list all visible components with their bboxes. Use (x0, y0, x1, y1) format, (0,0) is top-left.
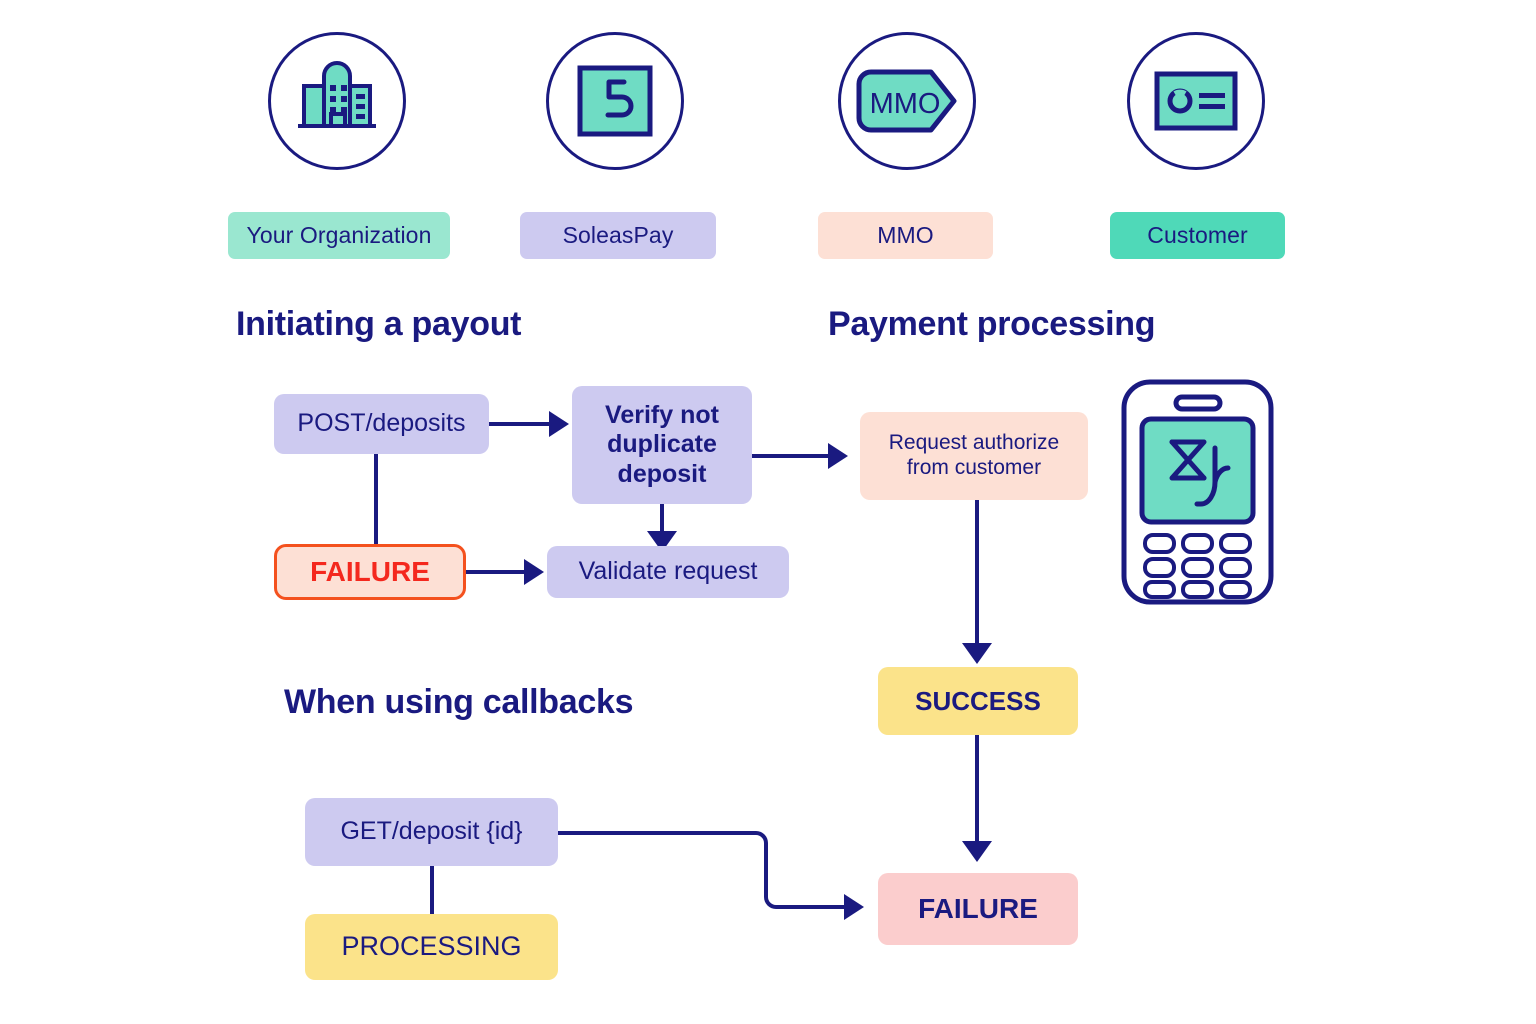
section-title-payment-processing: Payment processing (828, 305, 1155, 344)
connector-verify-to-request (752, 454, 830, 458)
legend-label: MMO (877, 222, 934, 249)
mmo-tag-icon: MMO (855, 68, 959, 134)
node-label: FAILURE (918, 892, 1038, 925)
legend-circle-soleaspay (546, 32, 684, 170)
legend-circle-your-organization (268, 32, 406, 170)
legend-badge-mmo: MMO (818, 212, 993, 259)
arrowhead-failure-to-validate (524, 559, 544, 585)
legend-item-mmo: MMO MMO (838, 32, 1013, 259)
section-title-initiating: Initiating a payout (236, 305, 521, 344)
legend-label: Your Organization (247, 222, 432, 249)
soleaspay-s-icon (576, 64, 654, 138)
connector-get-to-failure-seg3 (784, 905, 846, 909)
node-processing-status[interactable]: PROCESSING (305, 914, 558, 980)
node-success[interactable]: SUCCESS (878, 667, 1078, 735)
node-post-deposits[interactable]: POST/deposits (274, 394, 489, 454)
customer-card-icon (1153, 70, 1239, 132)
legend-badge-customer: Customer (1110, 212, 1285, 259)
connector-get-to-processing (430, 866, 434, 916)
connector-get-to-failure-seg2 (764, 851, 768, 889)
node-validate-request[interactable]: Validate request (547, 546, 789, 598)
node-label: PROCESSING (341, 931, 521, 963)
legend-item-your-organization: Your Organization (268, 32, 490, 259)
svg-text:MMO: MMO (870, 88, 941, 120)
node-label: FAILURE (310, 555, 430, 588)
connector-post-to-failure (374, 454, 378, 546)
node-failure-left[interactable]: FAILURE (274, 544, 466, 600)
legend-label: Customer (1147, 222, 1248, 249)
node-label: SUCCESS (915, 686, 1041, 717)
legend-badge-soleaspay: SoleasPay (520, 212, 716, 259)
connector-failure-to-validate (466, 570, 526, 574)
legend-item-customer: Customer (1127, 32, 1302, 259)
node-get-deposit[interactable]: GET/deposit {id} (305, 798, 558, 866)
legend-badge-your-organization: Your Organization (228, 212, 450, 259)
node-label: GET/deposit {id} (340, 817, 522, 847)
arrowhead-get-to-failure (844, 894, 864, 920)
node-request-authorize[interactable]: Request authorize from customer (860, 412, 1088, 500)
arrowhead-verify-to-request (828, 443, 848, 469)
connector-success-to-failure (975, 735, 979, 845)
node-failure-right[interactable]: FAILURE (878, 873, 1078, 945)
arrowhead-request-to-success (962, 643, 992, 664)
node-label: Validate request (579, 557, 758, 587)
legend-circle-customer (1127, 32, 1265, 170)
legend-label: SoleasPay (563, 222, 674, 249)
feature-phone-icon (1120, 378, 1275, 611)
node-verify-not-duplicate[interactable]: Verify not duplicate deposit (572, 386, 752, 504)
legend-item-soleaspay: SoleasPay (546, 32, 742, 259)
connector-post-to-verify (489, 422, 551, 426)
arrowhead-success-to-failure (962, 841, 992, 862)
connector-request-to-success (975, 500, 979, 647)
node-label: Request authorize from customer (868, 431, 1080, 481)
legend-circle-mmo: MMO (838, 32, 976, 170)
node-label: POST/deposits (297, 409, 465, 439)
arrowhead-post-to-verify (549, 411, 569, 437)
diagram-canvas: Your Organization SoleasPay MMO MMO (0, 0, 1536, 1024)
node-label: Verify not duplicate deposit (580, 401, 744, 490)
section-title-callbacks: When using callbacks (284, 683, 633, 722)
building-icon (294, 58, 380, 144)
connector-get-to-failure-seg1 (558, 831, 748, 835)
